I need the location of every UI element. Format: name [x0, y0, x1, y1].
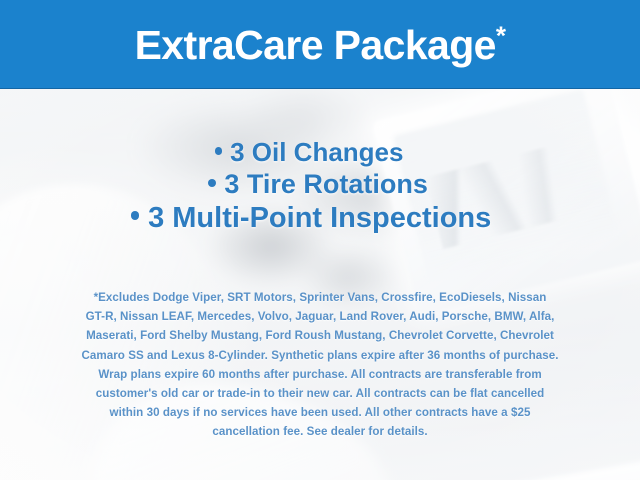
disclaimer-line: cancellation fee. See dealer for details…: [22, 422, 618, 441]
benefits-list: 3 Oil Changes 3 Tire Rotations 3 Multi-P…: [0, 138, 640, 235]
extracare-package-poster: ExtraCare Package* 3 Oil Changes 3 Tire …: [0, 0, 640, 480]
bullet-dot-icon: [131, 211, 140, 220]
page-title-text: ExtraCare Package: [135, 22, 496, 68]
bullet-dot-icon: [208, 179, 216, 187]
page-title: ExtraCare Package*: [135, 25, 506, 66]
bullet-dot-icon: [215, 147, 223, 155]
benefit-label: 3 Multi-Point Inspections: [148, 202, 491, 234]
disclaimer-line: GT-R, Nissan LEAF, Mercedes, Volvo, Jagu…: [22, 307, 618, 326]
title-asterisk: *: [496, 20, 506, 50]
benefit-label: 3 Oil Changes: [230, 137, 403, 167]
list-item: 3 Multi-Point Inspections: [0, 202, 640, 235]
disclaimer-line: Wrap plans expire 60 months after purcha…: [22, 365, 618, 384]
disclaimer-line: customer's old car or trade-in to their …: [22, 384, 618, 403]
list-item: 3 Tire Rotations: [0, 169, 640, 200]
list-item: 3 Oil Changes: [0, 138, 640, 167]
disclaimer-line: Maserati, Ford Shelby Mustang, Ford Rous…: [22, 326, 618, 345]
disclaimer-line: Camaro SS and Lexus 8-Cylinder. Syntheti…: [22, 346, 618, 365]
disclaimer-line: within 30 days if no services have been …: [22, 403, 618, 422]
benefit-label: 3 Tire Rotations: [224, 169, 428, 199]
header-banner: ExtraCare Package*: [0, 0, 640, 88]
disclaimer-line: *Excludes Dodge Viper, SRT Motors, Sprin…: [22, 288, 618, 307]
disclaimer-text: *Excludes Dodge Viper, SRT Motors, Sprin…: [22, 288, 618, 442]
